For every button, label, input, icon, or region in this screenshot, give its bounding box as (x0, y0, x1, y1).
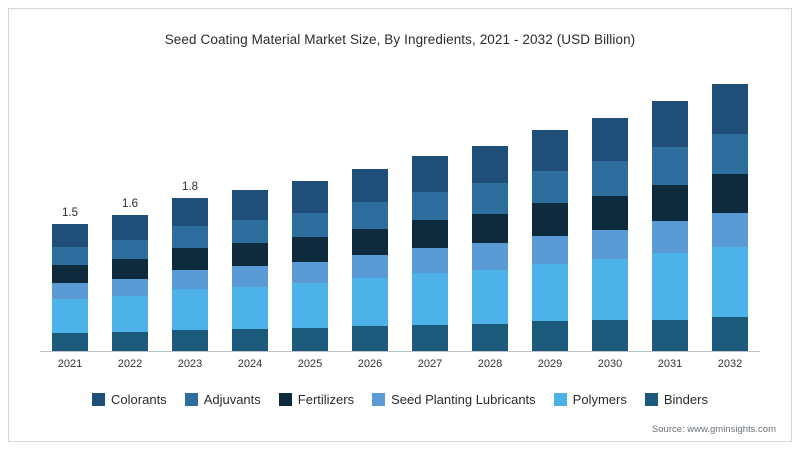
bar-segment-adjuvants[interactable] (52, 247, 88, 266)
bar-segment-binders[interactable] (292, 328, 328, 351)
legend-item-binders[interactable]: Binders (645, 392, 708, 407)
bar-segment-seed-planting-lubricants[interactable] (652, 221, 688, 253)
bar-segment-seed-planting-lubricants[interactable] (352, 255, 388, 278)
legend-swatch-icon (279, 393, 292, 406)
legend-swatch-icon (554, 393, 567, 406)
bar-segment-colorants[interactable] (412, 156, 448, 192)
bar-segment-fertilizers[interactable] (112, 259, 148, 279)
legend-item-seed-planting-lubricants[interactable]: Seed Planting Lubricants (372, 392, 536, 407)
bar-segment-adjuvants[interactable] (472, 183, 508, 214)
bar-segment-fertilizers[interactable] (652, 185, 688, 221)
legend-label: Seed Planting Lubricants (391, 392, 536, 407)
bar-segment-polymers[interactable] (472, 270, 508, 324)
bar-segment-binders[interactable] (712, 317, 748, 351)
bar-segment-seed-planting-lubricants[interactable] (532, 236, 568, 264)
plot-area: 1.51.61.8 (40, 72, 760, 352)
bar-2028[interactable] (472, 146, 508, 351)
source-note: Source: www.gminsights.com (652, 424, 776, 435)
bar-segment-seed-planting-lubricants[interactable] (172, 270, 208, 289)
bar-segment-seed-planting-lubricants[interactable] (112, 279, 148, 296)
bar-segment-colorants[interactable] (712, 84, 748, 134)
bar-segment-polymers[interactable] (712, 247, 748, 317)
bar-segment-polymers[interactable] (592, 259, 628, 320)
bar-segment-fertilizers[interactable] (712, 174, 748, 213)
legend-item-colorants[interactable]: Colorants (92, 392, 167, 407)
bar-segment-seed-planting-lubricants[interactable] (232, 266, 268, 286)
bar-segment-fertilizers[interactable] (232, 243, 268, 266)
bar-2022[interactable] (112, 215, 148, 351)
legend-label: Colorants (111, 392, 167, 407)
bar-segment-adjuvants[interactable] (592, 161, 628, 196)
bar-segment-colorants[interactable] (232, 190, 268, 220)
bar-segment-binders[interactable] (472, 324, 508, 351)
bar-segment-colorants[interactable] (112, 215, 148, 240)
bar-segment-fertilizers[interactable] (412, 220, 448, 248)
bar-segment-colorants[interactable] (352, 169, 388, 202)
chart-legend: ColorantsAdjuvantsFertilizersSeed Planti… (0, 392, 800, 407)
bar-2027[interactable] (412, 156, 448, 351)
bar-segment-seed-planting-lubricants[interactable] (472, 243, 508, 269)
legend-label: Binders (664, 392, 708, 407)
bar-segment-fertilizers[interactable] (292, 237, 328, 262)
bar-2032[interactable] (712, 84, 748, 351)
bar-segment-colorants[interactable] (592, 118, 628, 161)
bar-segment-polymers[interactable] (292, 283, 328, 328)
bar-segment-binders[interactable] (112, 332, 148, 351)
bar-segment-binders[interactable] (592, 320, 628, 351)
legend-swatch-icon (92, 393, 105, 406)
legend-label: Adjuvants (204, 392, 261, 407)
chart-page: Seed Coating Material Market Size, By In… (0, 0, 800, 450)
legend-swatch-icon (645, 393, 658, 406)
bar-segment-adjuvants[interactable] (712, 134, 748, 174)
bar-segment-binders[interactable] (652, 320, 688, 351)
bar-segment-adjuvants[interactable] (412, 192, 448, 221)
bar-segment-colorants[interactable] (292, 181, 328, 212)
bar-segment-colorants[interactable] (532, 130, 568, 171)
bar-segment-polymers[interactable] (412, 273, 448, 325)
bar-segment-adjuvants[interactable] (172, 226, 208, 248)
legend-label: Fertilizers (298, 392, 354, 407)
bar-segment-seed-planting-lubricants[interactable] (52, 283, 88, 299)
bar-segment-colorants[interactable] (472, 146, 508, 183)
bar-segment-colorants[interactable] (172, 198, 208, 226)
bar-segment-binders[interactable] (52, 333, 88, 351)
bar-2025[interactable] (292, 181, 328, 351)
x-axis-tick-2032: 2032 (695, 358, 765, 370)
bar-segment-fertilizers[interactable] (592, 196, 628, 230)
bar-segment-polymers[interactable] (52, 299, 88, 333)
bar-segment-fertilizers[interactable] (352, 229, 388, 255)
bar-segment-fertilizers[interactable] (52, 265, 88, 283)
bar-segment-fertilizers[interactable] (532, 203, 568, 235)
legend-item-adjuvants[interactable]: Adjuvants (185, 392, 261, 407)
bar-2024[interactable] (232, 190, 268, 351)
bar-segment-adjuvants[interactable] (232, 220, 268, 244)
legend-swatch-icon (185, 393, 198, 406)
bar-segment-polymers[interactable] (112, 296, 148, 332)
bar-segment-adjuvants[interactable] (652, 147, 688, 184)
bar-2031[interactable] (652, 101, 688, 351)
legend-swatch-icon (372, 393, 385, 406)
bar-segment-binders[interactable] (232, 329, 268, 351)
bar-segment-seed-planting-lubricants[interactable] (412, 248, 448, 273)
x-axis-line (40, 351, 760, 352)
bar-2021[interactable] (52, 224, 88, 351)
bar-segment-adjuvants[interactable] (532, 171, 568, 203)
bar-segment-polymers[interactable] (532, 264, 568, 322)
bar-segment-polymers[interactable] (172, 289, 208, 330)
bar-2023[interactable] (172, 198, 208, 351)
bar-2029[interactable] (532, 130, 568, 351)
bar-segment-adjuvants[interactable] (292, 213, 328, 238)
bar-segment-polymers[interactable] (232, 287, 268, 329)
legend-label: Polymers (573, 392, 627, 407)
bar-segment-colorants[interactable] (652, 101, 688, 148)
bar-segment-seed-planting-lubricants[interactable] (712, 213, 748, 247)
bar-segment-binders[interactable] (352, 326, 388, 351)
bar-2026[interactable] (352, 169, 388, 351)
bar-segment-fertilizers[interactable] (472, 214, 508, 244)
legend-item-polymers[interactable]: Polymers (554, 392, 627, 407)
legend-item-fertilizers[interactable]: Fertilizers (279, 392, 354, 407)
bar-segment-adjuvants[interactable] (352, 202, 388, 229)
bar-value-label: 1.8 (155, 181, 225, 193)
bar-segment-polymers[interactable] (652, 253, 688, 319)
bar-segment-seed-planting-lubricants[interactable] (592, 230, 628, 260)
bar-segment-binders[interactable] (172, 330, 208, 351)
bar-segment-polymers[interactable] (352, 278, 388, 326)
chart-title: Seed Coating Material Market Size, By In… (0, 32, 800, 47)
bar-value-label: 1.6 (95, 198, 165, 210)
bar-segment-fertilizers[interactable] (172, 248, 208, 270)
bar-segment-seed-planting-lubricants[interactable] (292, 262, 328, 283)
bar-segment-binders[interactable] (532, 321, 568, 351)
bar-segment-colorants[interactable] (52, 224, 88, 247)
bar-segment-binders[interactable] (412, 325, 448, 351)
bar-segment-adjuvants[interactable] (112, 240, 148, 260)
bar-2030[interactable] (592, 118, 628, 351)
